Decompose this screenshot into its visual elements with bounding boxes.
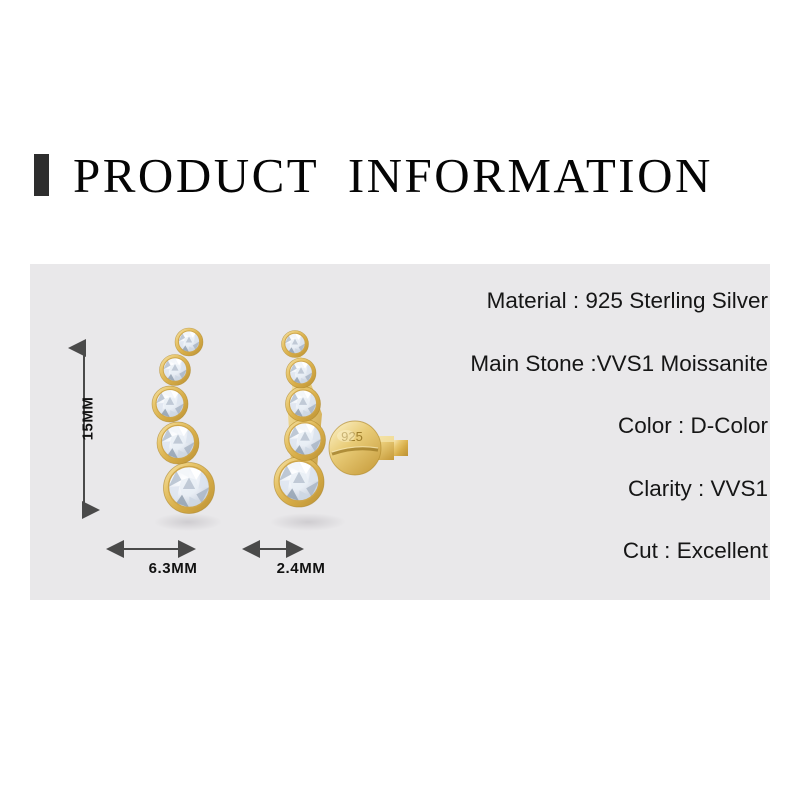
specification-list: Material : 925 Sterling Silver Main Ston…	[288, 290, 768, 563]
stone-small	[160, 355, 191, 386]
stone-medium	[152, 386, 188, 422]
earring-front-view	[152, 328, 222, 531]
page-title-row: PRODUCT INFORMATION	[34, 150, 713, 200]
spec-cut: Cut : Excellent	[288, 540, 768, 563]
spec-main-stone: Main Stone :VVS1 Moissanite	[288, 353, 768, 376]
spec-clarity: Clarity : VVS1	[288, 478, 768, 501]
stone-large	[164, 463, 215, 514]
height-dimension-label: 15MM	[79, 397, 96, 441]
page-title: PRODUCT INFORMATION	[73, 151, 713, 200]
stone-smallest	[175, 328, 203, 356]
product-information-panel: 925 15MM 6.3MM 2.4MM Material : 925 Ster…	[30, 264, 770, 600]
depth-dimension-label: 2.4MM	[246, 560, 356, 577]
width-dimension-label: 6.3MM	[118, 560, 228, 577]
spec-color: Color : D-Color	[288, 415, 768, 438]
spec-material: Material : 925 Sterling Silver	[288, 290, 768, 313]
title-bar-marker-icon	[34, 154, 49, 196]
stone-medium-large	[157, 422, 199, 464]
